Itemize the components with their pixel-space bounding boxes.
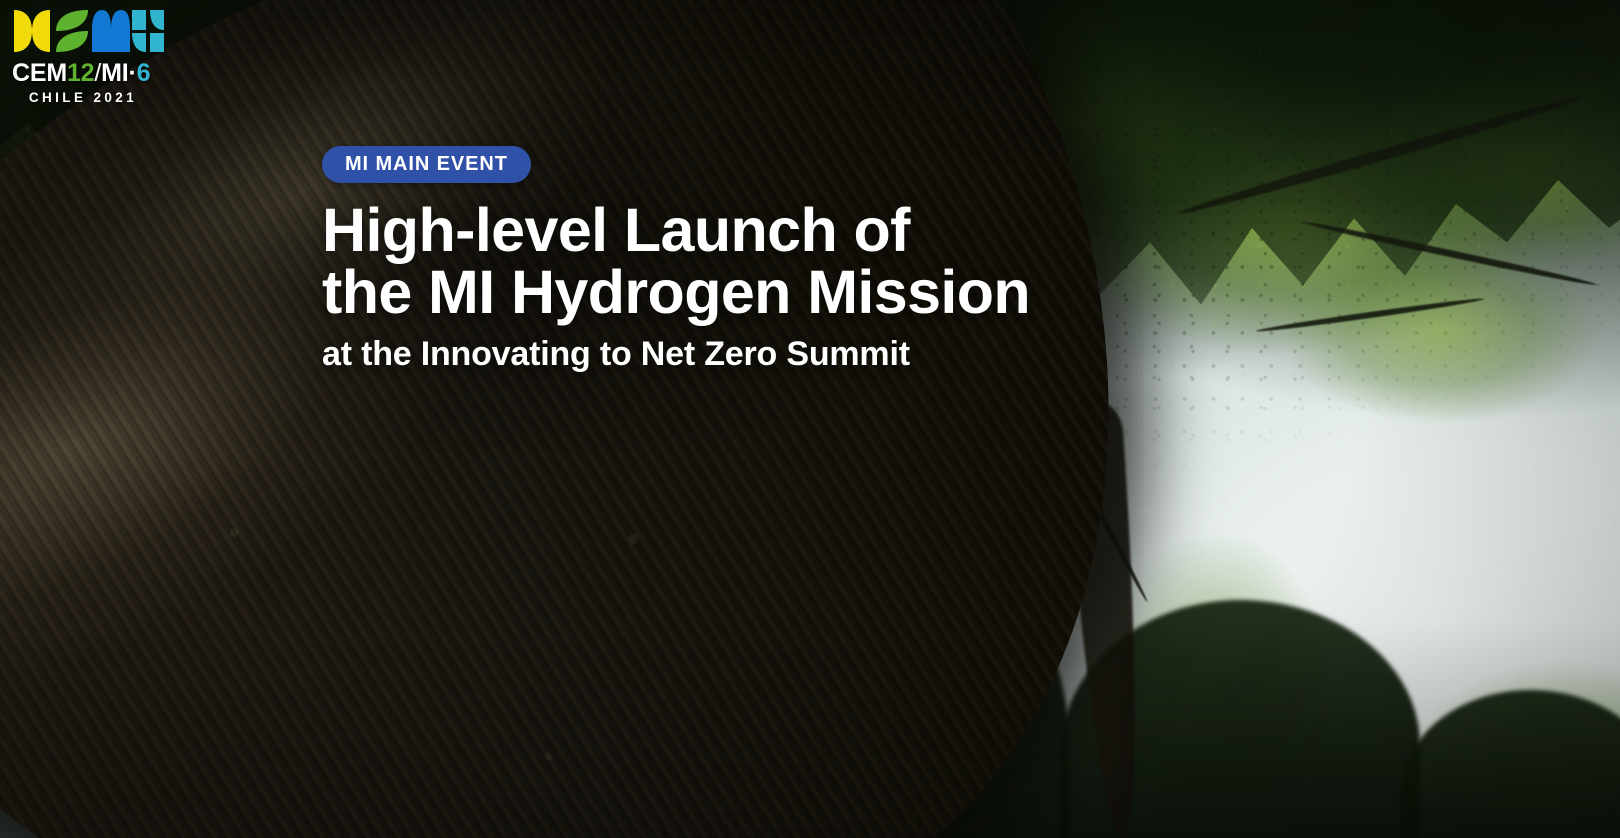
pinwheel-icon [12, 6, 52, 56]
arch-icon [92, 6, 130, 56]
logo-mi: MI· [101, 59, 137, 87]
leaves-icon [54, 6, 90, 56]
event-type-badge: MI MAIN EVENT [322, 146, 531, 183]
page-title: High-level Launch of the MI Hydrogen Mis… [322, 199, 1342, 323]
logo-marks [12, 6, 160, 56]
slide-canvas: CEM12/MI·6 CHILE 2021 MI MAIN EVENT High… [0, 0, 1620, 838]
cem12-mi6-logo: CEM12/MI·6 CHILE 2021 [12, 6, 160, 105]
logo-6: 6 [137, 59, 151, 87]
background-photo [0, 0, 1620, 838]
title-line-2: the MI Hydrogen Mission [322, 261, 1342, 323]
title-line-1: High-level Launch of [322, 199, 1342, 261]
logo-tagline: CHILE 2021 [12, 90, 154, 105]
page-subtitle: at the Innovating to Net Zero Summit [322, 335, 1342, 374]
headline-block: MI MAIN EVENT High-level Launch of the M… [322, 146, 1342, 374]
quadrants-icon [132, 6, 164, 56]
logo-wordmark: CEM12/MI·6 [12, 61, 160, 86]
logo-cem: CEM [12, 59, 67, 87]
logo-12: 12 [67, 59, 94, 87]
